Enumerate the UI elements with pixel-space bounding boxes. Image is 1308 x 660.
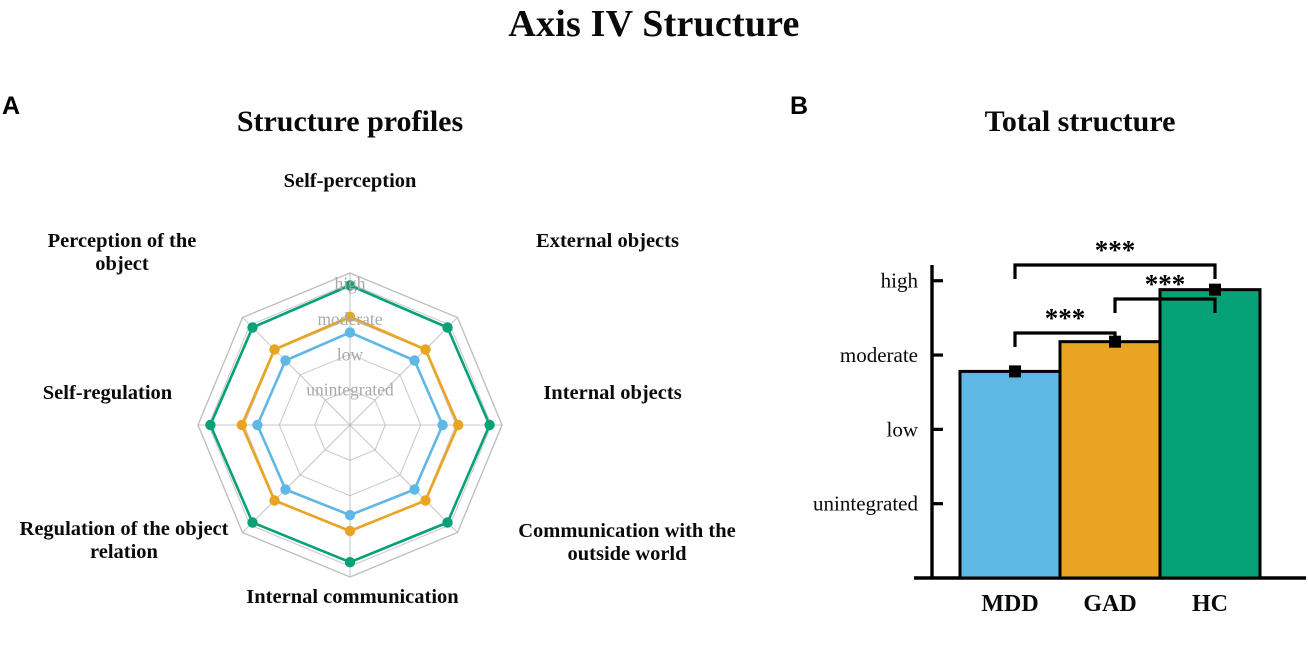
radar-point-GAD: [420, 495, 430, 505]
radar-radial-tick-high: high: [334, 274, 365, 294]
radar-axis-label-self-regulation: Self-regulation: [25, 382, 190, 405]
radar-point-HC: [205, 420, 215, 430]
y-tick-label-low: low: [887, 417, 919, 441]
significance-stars: ***: [1145, 269, 1186, 299]
radar-point-GAD: [453, 420, 463, 430]
radar-svg: unintegratedlowmoderatehigh: [0, 150, 760, 660]
radar-axis-label-communication-outside-world: Communication with the outside world: [513, 520, 741, 566]
panel-b-title: Total structure: [910, 105, 1250, 139]
radar-point-MDD: [280, 355, 290, 365]
x-category-label-HC: HC: [1192, 591, 1228, 617]
radar-radial-tick-moderate: moderate: [317, 309, 382, 329]
error-marker-MDD: [1009, 365, 1021, 377]
radar-point-MDD: [280, 484, 290, 494]
radar-point-GAD: [269, 495, 279, 505]
bar-GAD[interactable]: [1060, 342, 1160, 578]
radar-point-HC: [442, 517, 452, 527]
radar-point-MDD: [409, 355, 419, 365]
radar-point-HC: [247, 517, 257, 527]
radar-radial-tick-low: low: [337, 344, 364, 364]
radar-point-MDD: [345, 510, 355, 520]
radar-axis-label-internal-communication: Internal communication: [245, 586, 460, 609]
radar-radial-tick-unintegrated: unintegrated: [306, 380, 394, 400]
panel-a-radar-chart: unintegratedlowmoderatehigh Self-percept…: [0, 150, 760, 660]
error-marker-HC: [1209, 284, 1221, 296]
radar-point-MDD: [252, 420, 262, 430]
radar-point-GAD: [345, 526, 355, 536]
panel-a-letter: A: [2, 92, 20, 121]
bar-chart-y-tick-labels: unintegratedlowmoderatehigh: [813, 269, 919, 516]
radar-point-MDD: [437, 420, 447, 430]
radar-point-GAD: [269, 344, 279, 354]
significance-stars: ***: [1045, 303, 1086, 333]
bar-chart-svg: unintegratedlowmoderatehigh MDDGADHC ***…: [780, 150, 1308, 660]
radar-axis-label-regulation-object-relation: Regulation of the object relation: [10, 518, 238, 564]
radar-point-MDD: [409, 484, 419, 494]
bar-chart-category-labels: MDDGADHC: [981, 591, 1228, 617]
radar-axis-label-internal-objects: Internal objects: [525, 382, 700, 405]
radar-point-GAD: [420, 344, 430, 354]
panel-b-letter: B: [790, 92, 808, 121]
y-tick-label-high: high: [881, 269, 919, 293]
bar-HC[interactable]: [1160, 290, 1260, 578]
y-tick-label-moderate: moderate: [840, 343, 918, 367]
radar-axis-label-external-objects: External objects: [520, 230, 695, 253]
y-tick-label-unintegrated: unintegrated: [813, 492, 918, 516]
radar-point-HC: [442, 322, 452, 332]
figure-title: Axis IV Structure: [0, 2, 1308, 46]
radar-axis-label-self-perception: Self-perception: [255, 170, 445, 193]
radar-point-HC: [345, 557, 355, 567]
panel-a-title: Structure profiles: [180, 105, 520, 139]
x-category-label-GAD: GAD: [1083, 591, 1136, 617]
radar-point-GAD: [237, 420, 247, 430]
radar-point-HC: [484, 420, 494, 430]
x-category-label-MDD: MDD: [981, 591, 1038, 617]
significance-stars: ***: [1095, 235, 1136, 265]
bar-MDD[interactable]: [960, 371, 1060, 578]
panel-b-bar-chart: unintegratedlowmoderatehigh MDDGADHC ***…: [780, 150, 1308, 660]
radar-axis-label-perception-of-object: Perception of the object: [22, 230, 222, 276]
radar-point-HC: [247, 322, 257, 332]
